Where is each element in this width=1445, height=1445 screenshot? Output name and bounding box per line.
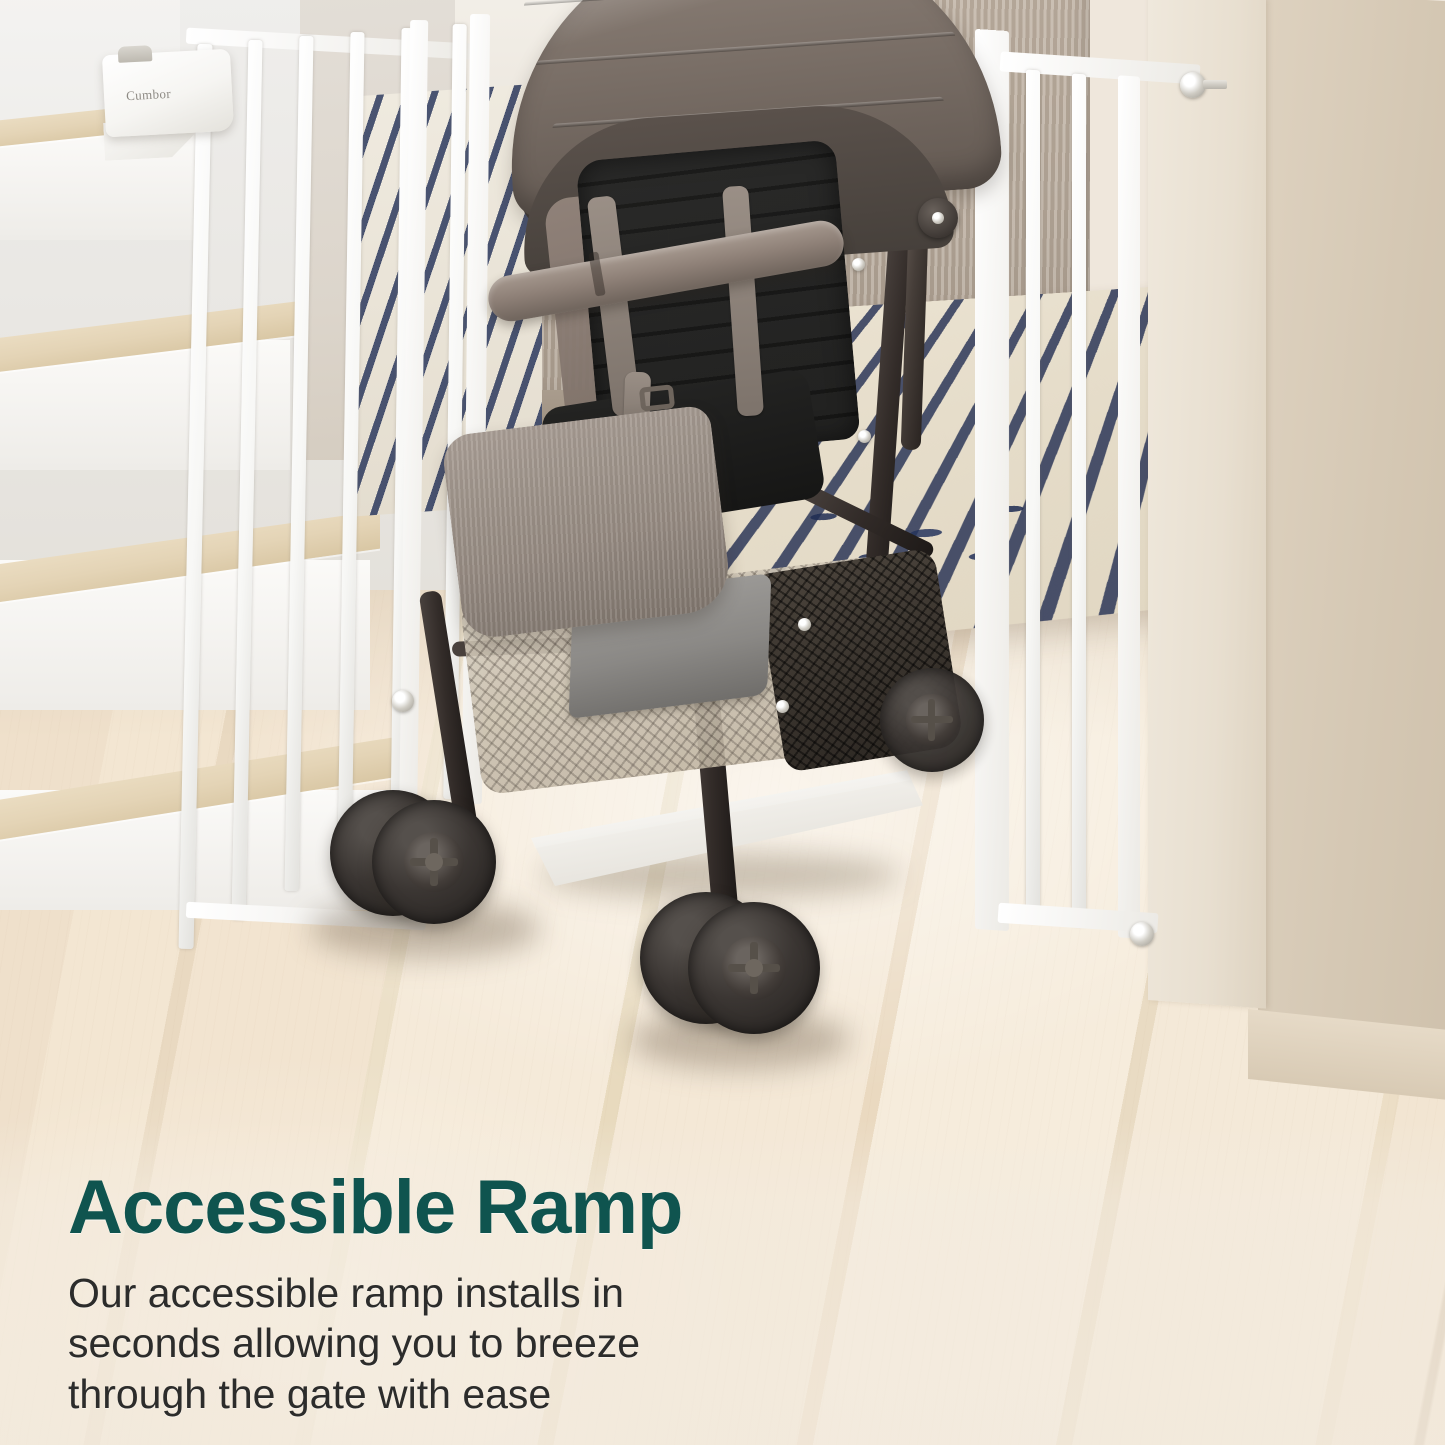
stroller-footrest	[441, 404, 734, 640]
canopy-hinge-screw	[932, 212, 944, 224]
description-line-2: seconds allowing you to breeze	[68, 1318, 968, 1368]
frame-rivet-1	[852, 258, 865, 271]
gate-mount-bolt-bottom	[1130, 922, 1154, 946]
description-line-1: Our accessible ramp installs in	[68, 1268, 968, 1318]
page-title: Accessible Ramp	[68, 1170, 968, 1246]
wheel-hub-cap	[425, 853, 443, 871]
wheel-hub-cap	[745, 959, 763, 977]
gate-mount-stem-top	[1203, 80, 1227, 89]
right-wall	[1258, 0, 1445, 1092]
wheel-spoke	[911, 716, 953, 723]
rear-wheel-hub-right	[722, 936, 786, 1000]
gate-right-bar-2	[1072, 74, 1086, 927]
harness-buckle-ring	[639, 384, 675, 411]
front-wheel-hub-left	[404, 832, 464, 892]
frame-rivet-4	[776, 700, 789, 713]
frame-rivet-3	[798, 618, 811, 631]
gate-mount-bolt-left	[392, 690, 414, 712]
gate-right-bar-1	[1026, 70, 1040, 923]
rear-wheel-far-hub	[906, 694, 958, 746]
canopy-rib-1	[524, 0, 963, 6]
door-jamb	[1148, 0, 1266, 1009]
description-text: Our accessible ramp installs in seconds …	[68, 1268, 968, 1419]
canopy-rib-2	[536, 32, 955, 65]
marketing-copy-block: Accessible Ramp Our accessible ramp inst…	[68, 1170, 968, 1419]
brand-logo-text: Cumbor	[126, 86, 172, 104]
frame-rivet-2	[858, 430, 871, 443]
description-line-3: through the gate with ease	[68, 1369, 968, 1419]
product-lifestyle-image: Cumbor	[0, 0, 1445, 1445]
latch-release-button[interactable]	[118, 45, 153, 63]
gate-right-stile-inner	[1118, 75, 1140, 938]
